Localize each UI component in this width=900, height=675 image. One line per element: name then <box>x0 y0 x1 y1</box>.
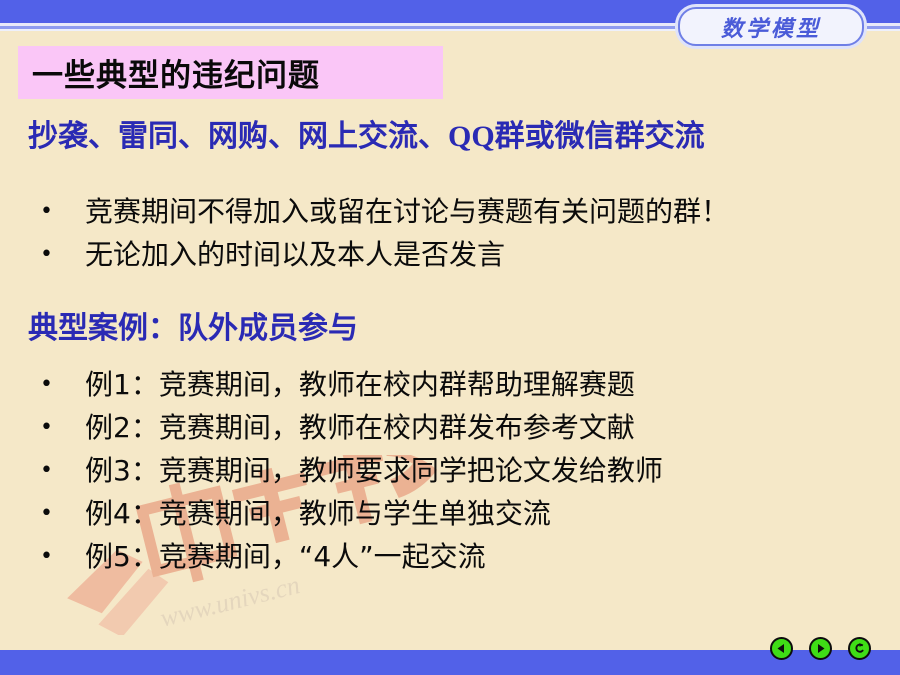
list-item: 例1：竞赛期间，教师在校内群帮助理解赛题 <box>0 363 900 406</box>
course-badge: 数学模型 <box>678 7 864 46</box>
spacer <box>0 156 900 170</box>
spacer <box>0 276 900 310</box>
list-item: 例2：竞赛期间，教师在校内群发布参考文献 <box>0 406 900 449</box>
triangle-left-icon <box>776 643 787 654</box>
course-badge-label: 数学模型 <box>721 11 821 43</box>
svg-text:www.univs.cn: www.univs.cn <box>157 570 302 633</box>
previous-slide-button[interactable] <box>770 637 793 660</box>
case-section-heading: 典型案例：队外成员参与 <box>28 310 900 348</box>
home-return-button[interactable] <box>848 637 871 660</box>
list-item: 无论加入的时间以及本人是否发言 <box>0 233 900 276</box>
slide-content: 抄袭、雷同、网购、网上交流、QQ群或微信群交流 竞赛期间不得加入或留在讨论与赛题… <box>0 118 900 578</box>
slide-title-box: 一些典型的违纪问题 <box>18 46 443 99</box>
rules-list: 竞赛期间不得加入或留在讨论与赛题有关问题的群！ 无论加入的时间以及本人是否发言 <box>0 190 900 276</box>
slide-canvas: 数学模型 一些典型的违纪问题 www.univs.cn 抄袭、雷同、网购、网上交… <box>0 0 900 675</box>
triangle-right-icon <box>815 643 826 654</box>
list-item: 例3：竞赛期间，教师要求同学把论文发给教师 <box>0 449 900 492</box>
next-slide-button[interactable] <box>809 637 832 660</box>
return-arrow-icon <box>853 642 866 655</box>
list-item: 例5：竞赛期间，“4人”一起交流 <box>0 535 900 578</box>
list-item: 竞赛期间不得加入或留在讨论与赛题有关问题的群！ <box>0 190 875 233</box>
spacer <box>0 349 900 363</box>
cases-list: 例1：竞赛期间，教师在校内群帮助理解赛题 例2：竞赛期间，教师在校内群发布参考文… <box>0 363 900 578</box>
list-item: 例4：竞赛期间，教师与学生单独交流 <box>0 492 900 535</box>
section-subtitle: 抄袭、雷同、网购、网上交流、QQ群或微信群交流 <box>28 118 900 156</box>
bottom-decoration-bar <box>0 650 900 675</box>
navigation-controls <box>770 637 871 660</box>
page-title: 一些典型的违纪问题 <box>32 50 320 95</box>
